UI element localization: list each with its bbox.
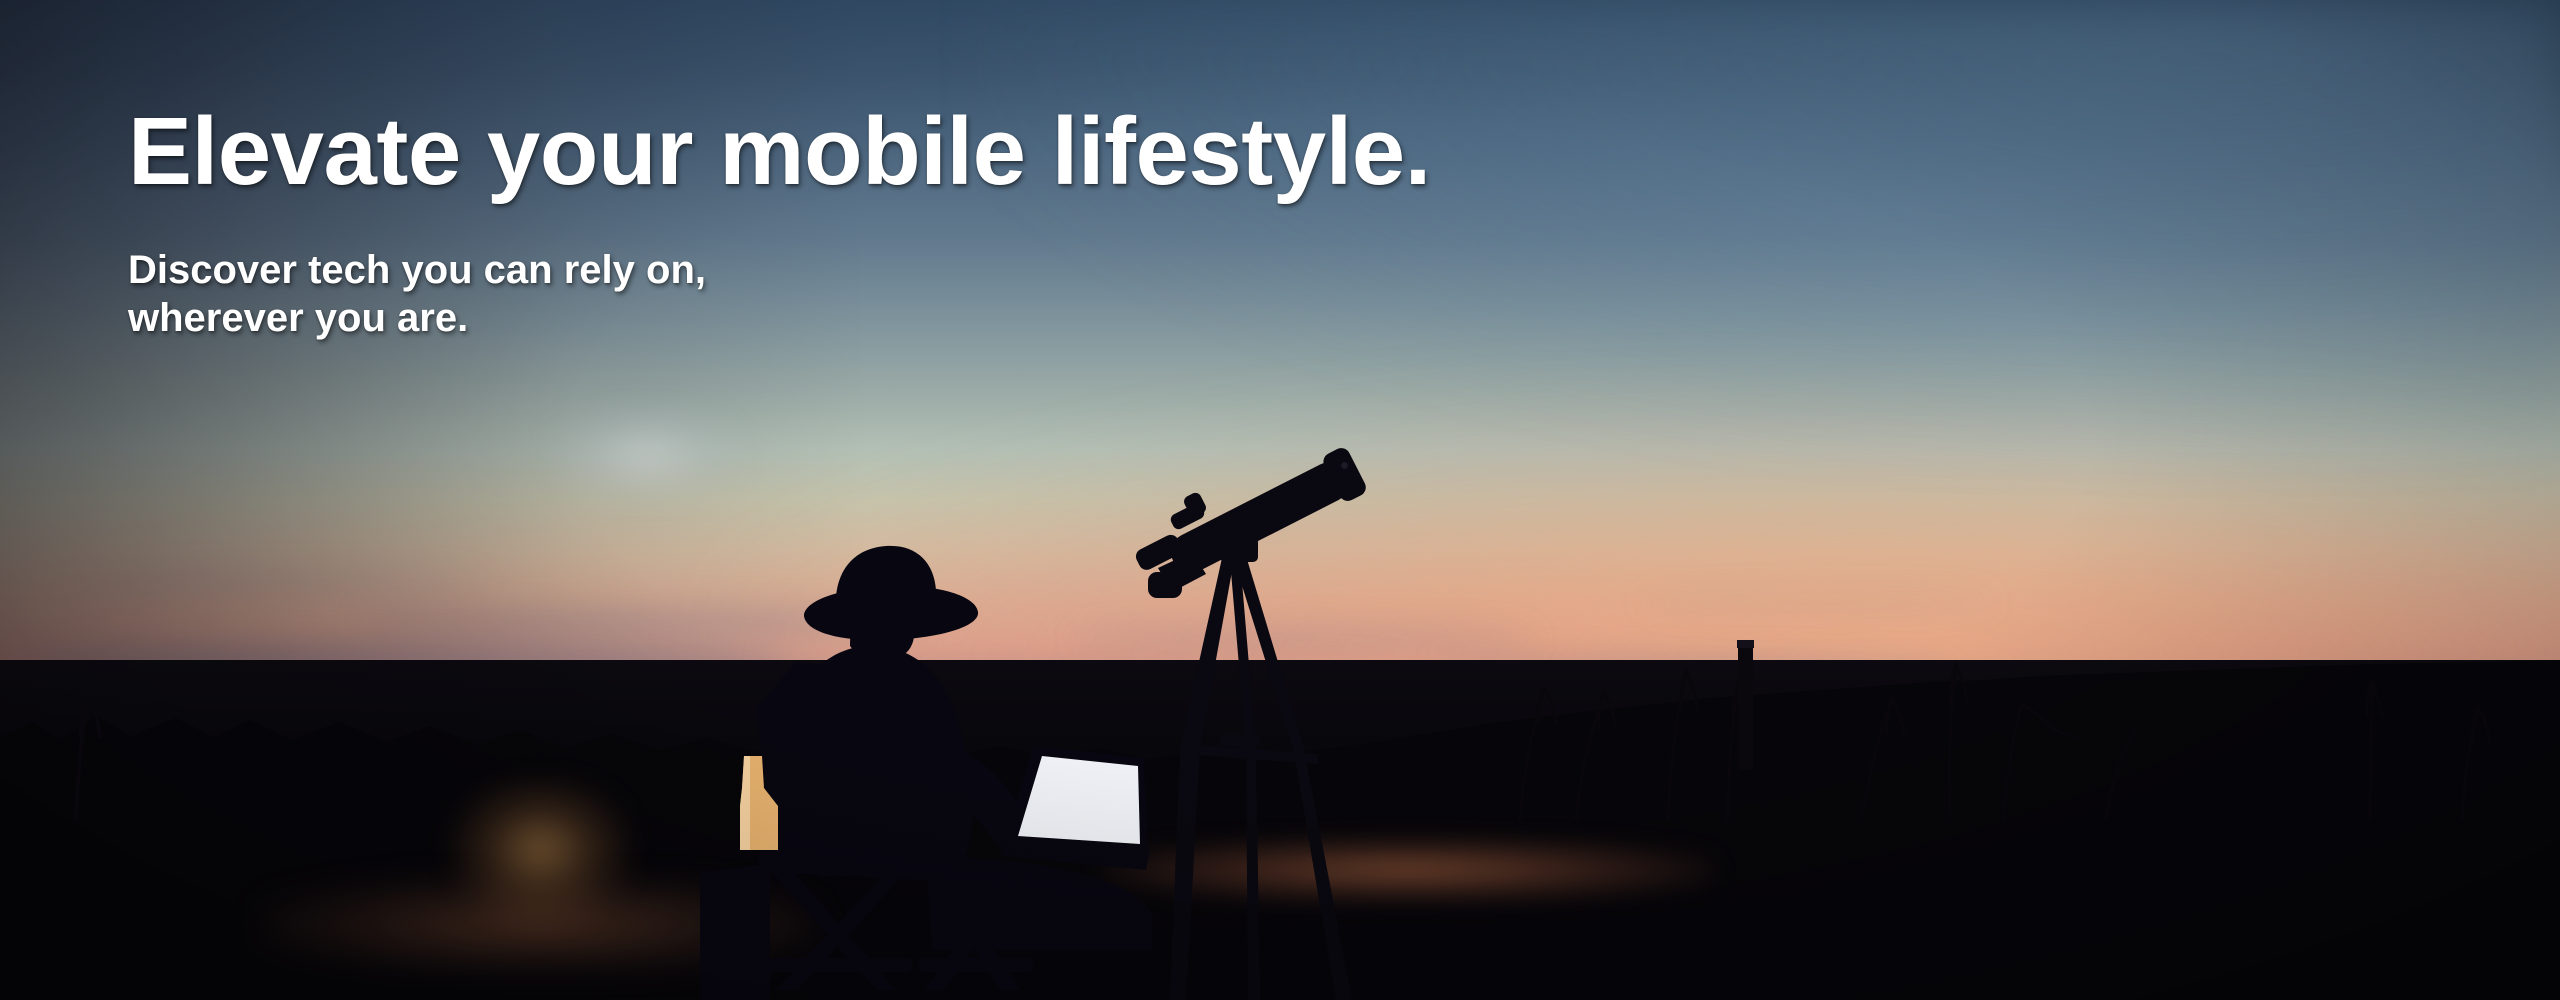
grass-stalks <box>1480 560 2560 820</box>
lantern-glow <box>451 780 630 920</box>
hero-subheadline-line-1: Discover tech you can rely on, <box>128 246 1431 294</box>
hero-banner: Elevate your mobile lifestyle. Discover … <box>0 0 2560 1000</box>
fence-post <box>1726 640 1766 770</box>
laptop-screen-glow <box>550 405 742 505</box>
grass-stalk-left <box>28 620 148 820</box>
hero-subheadline: Discover tech you can rely on, wherever … <box>128 200 1431 342</box>
hero-subheadline-line-2: wherever you are. <box>128 294 1431 342</box>
hero-headline: Elevate your mobile lifestyle. <box>128 104 1431 200</box>
hero-copy: Elevate your mobile lifestyle. Discover … <box>128 104 1431 342</box>
person-with-laptop-silhouette <box>700 520 1220 1000</box>
